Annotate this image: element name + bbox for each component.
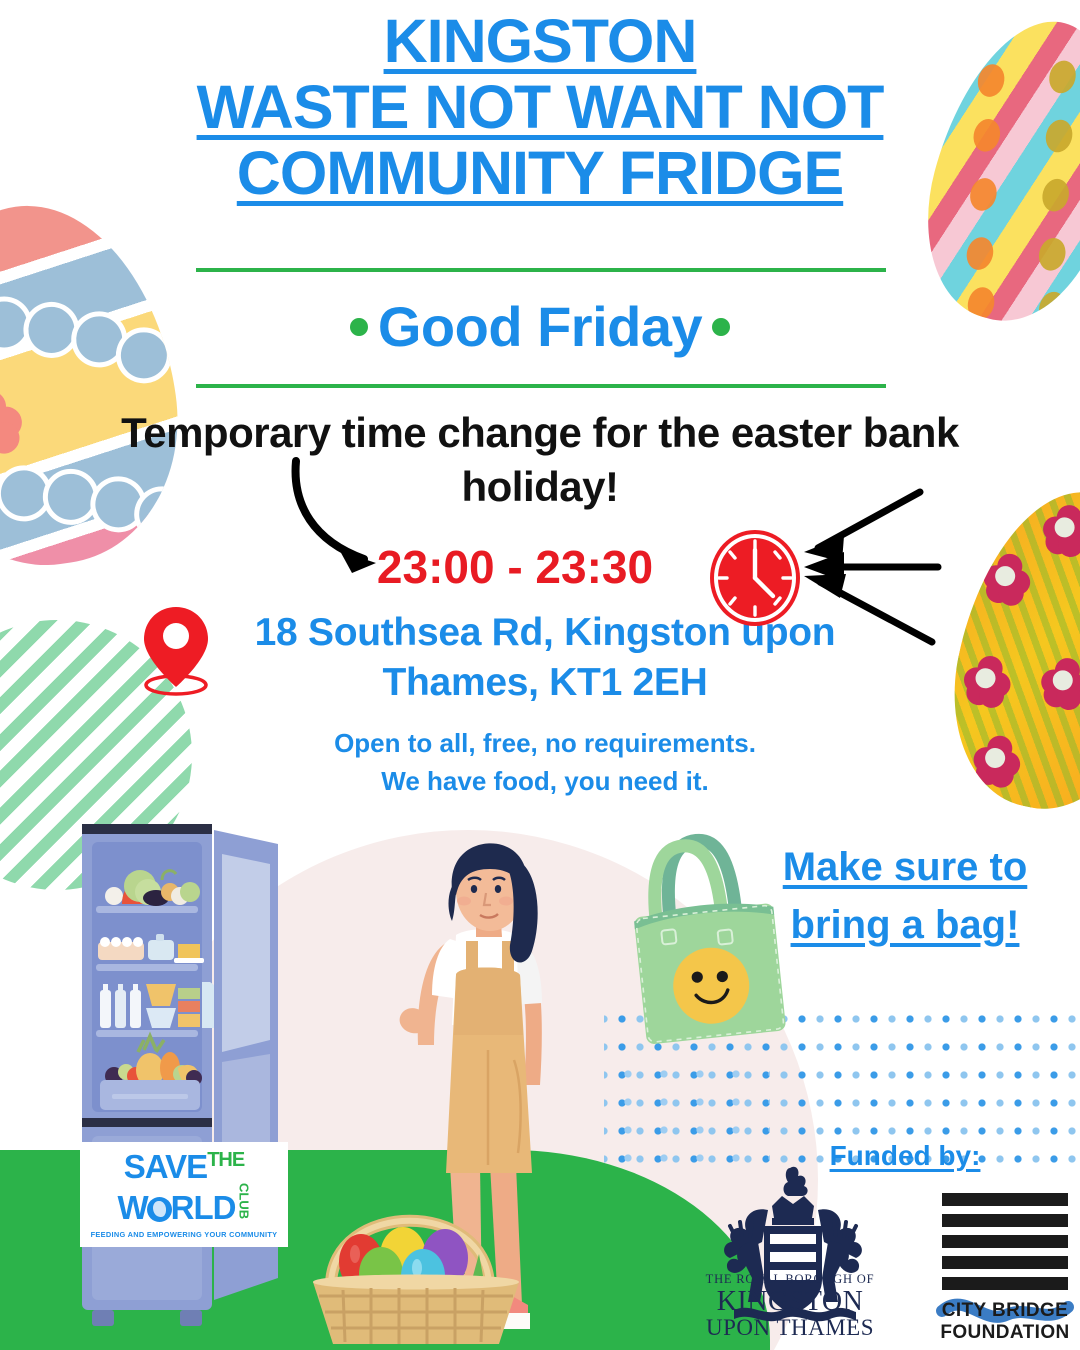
service-tagline: Open to all, free, no requirements. We h… — [150, 725, 940, 800]
green-divider-bottom — [196, 384, 886, 388]
headline-line-3: COMMUNITY FRIDGE — [0, 140, 1080, 206]
pointing-arrows-icon — [760, 470, 960, 670]
poster-headline: KINGSTON WASTE NOT WANT NOT COMMUNITY FR… — [0, 8, 1080, 207]
headline-line-2: WASTE NOT WANT NOT — [0, 74, 1080, 140]
green-dot-left-icon — [350, 318, 368, 336]
occasion-title: Good Friday — [0, 294, 1080, 359]
tagline-line-2: We have food, you need it. — [150, 763, 940, 801]
cbf-name-line-1: CITY BRIDGE — [915, 1300, 1080, 1322]
stw-word-the: THE — [207, 1149, 244, 1171]
city-bridge-foundation-wordmark: CITY BRIDGE FOUNDATION — [915, 1300, 1080, 1345]
stw-word-club: CLUB — [237, 1183, 250, 1219]
stw-line-world-club: WRLDCLUB — [118, 1183, 251, 1226]
save-the-world-club-logo: SAVETHE WRLDCLUB FEEDING AND EMPOWERING … — [80, 1142, 288, 1247]
community-fridge-illustration — [78, 818, 290, 1330]
rbk-pre-label: THE ROYAL BOROUGH OF — [690, 1272, 890, 1287]
globe-icon — [147, 1197, 172, 1222]
tote-bag-illustration — [614, 818, 799, 1053]
rbk-name-line-2: UPON THAMES — [690, 1316, 890, 1340]
green-divider-top — [196, 268, 886, 272]
location-pin-icon — [138, 605, 214, 697]
headline-line-1: KINGSTON — [0, 8, 1080, 74]
rbk-name-line-1: KINGSTON — [690, 1287, 890, 1316]
easter-egg-watercolor-left — [0, 188, 197, 581]
royal-borough-kingston-wordmark: THE ROYAL BOROUGH OF KINGSTON UPON THAME… — [690, 1272, 890, 1340]
easter-basket-illustration — [303, 1168, 529, 1350]
stw-strapline: FEEDING AND EMPOWERING YOUR COMMUNITY — [91, 1230, 278, 1239]
poster-canvas: KINGSTON WASTE NOT WANT NOT COMMUNITY FR… — [0, 0, 1080, 1350]
green-dot-right-icon — [712, 318, 730, 336]
occasion-label: Good Friday — [378, 295, 702, 358]
stw-word-save: SAVE — [124, 1148, 207, 1185]
cbf-name-line-2: FOUNDATION — [915, 1322, 1080, 1344]
tagline-line-1: Open to all, free, no requirements. — [150, 725, 940, 763]
curved-arrow-icon — [280, 455, 410, 595]
stw-line-save-the: SAVETHE — [124, 1150, 244, 1183]
